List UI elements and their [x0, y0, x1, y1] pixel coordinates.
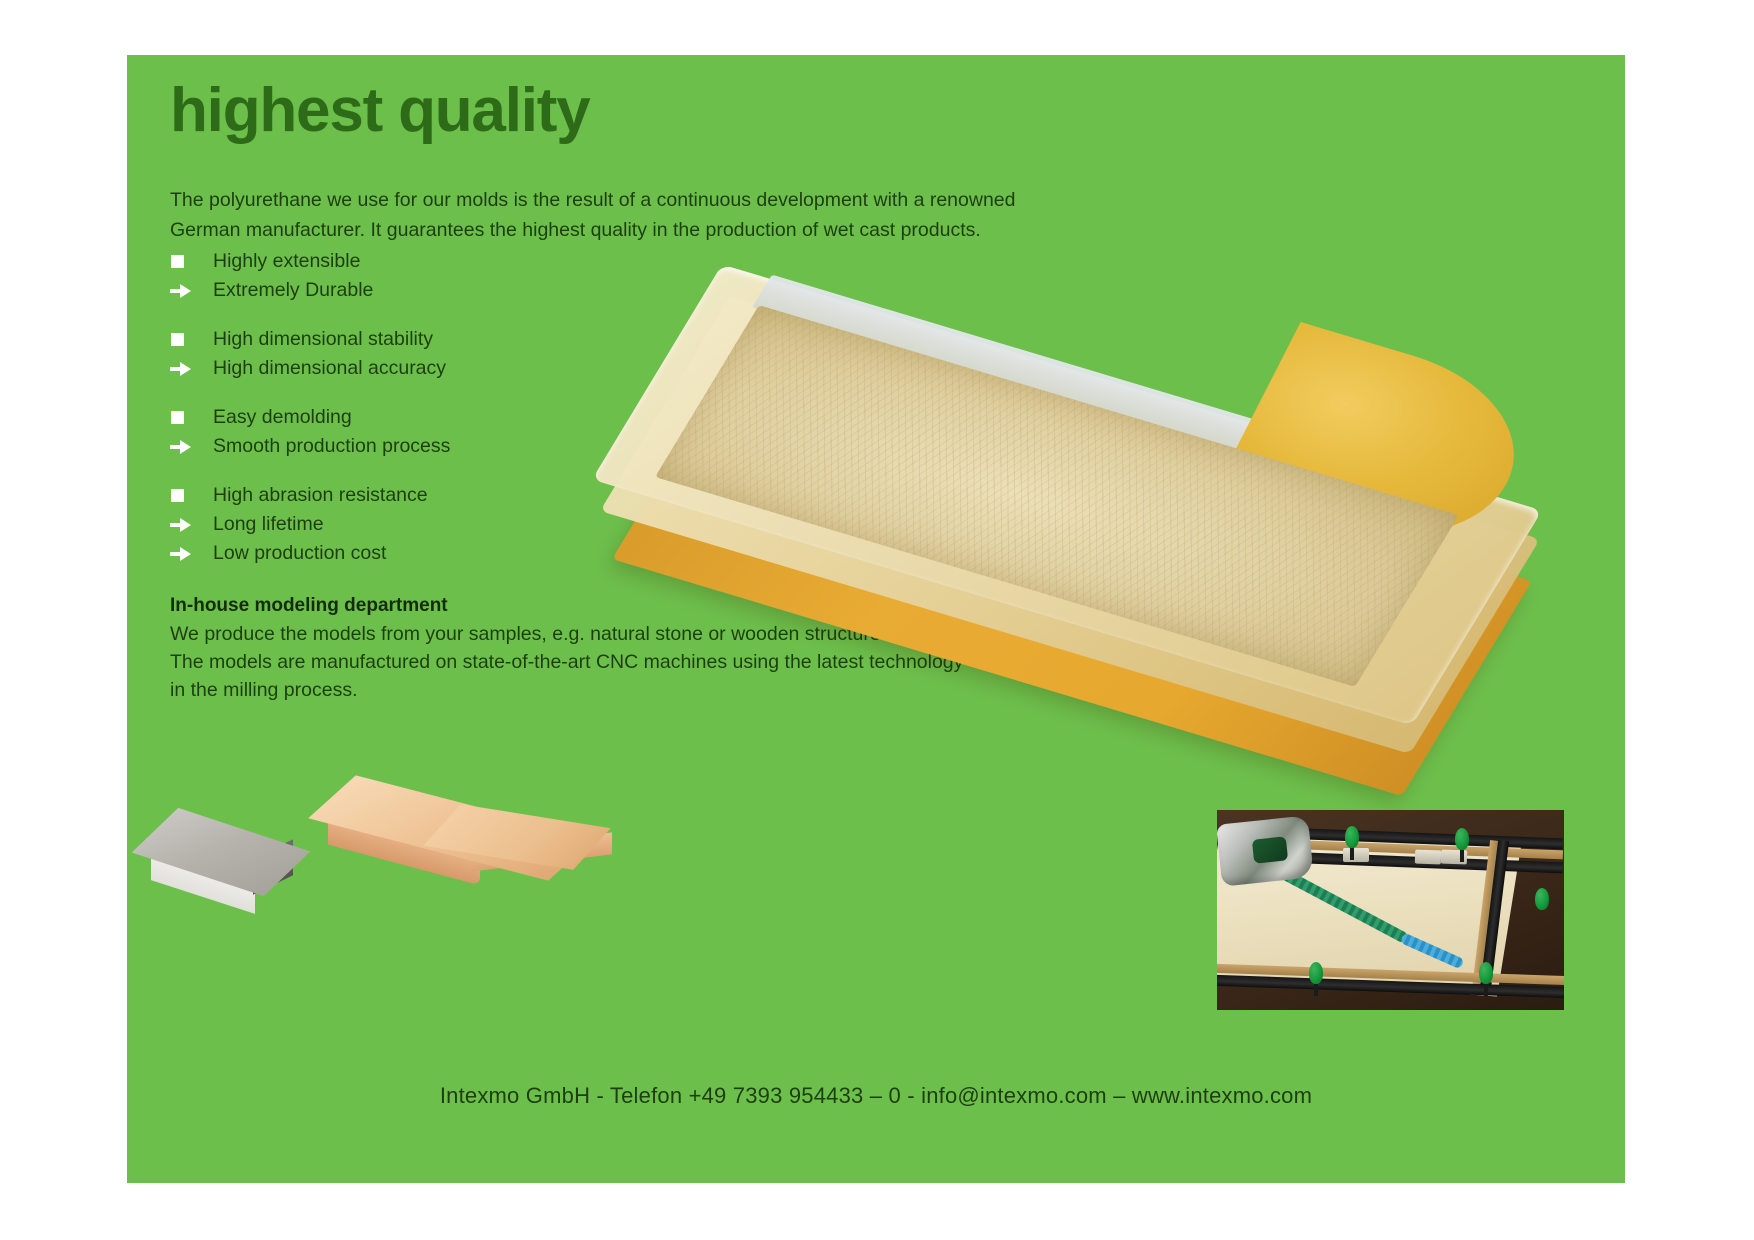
cnc-slider-block	[1415, 850, 1441, 865]
square-bullet-icon	[170, 333, 213, 346]
arrow-bullet-icon	[170, 284, 213, 298]
polyurethane-mold-photo	[557, 230, 1557, 750]
feature-label: High dimensional stability	[213, 325, 433, 354]
grey-stone-slab-sample	[147, 815, 327, 925]
arrow-bullet-icon	[170, 362, 213, 376]
tan-wood-structure-slab-sample	[322, 795, 612, 915]
arrow-bullet-icon	[170, 518, 213, 532]
arrow-bullet-icon	[170, 440, 213, 454]
cnc-green-clamp	[1479, 962, 1493, 984]
cnc-spray-head-nozzle	[1252, 836, 1288, 863]
feature-label: Smooth production process	[213, 432, 450, 461]
arrow-bullet-icon	[170, 547, 213, 561]
brochure-panel: highest quality The polyurethane we use …	[127, 55, 1625, 1183]
square-bullet-icon	[170, 255, 213, 268]
feature-label: Extremely Durable	[213, 276, 373, 305]
feature-label: Highly extensible	[213, 247, 360, 276]
cnc-green-clamp	[1535, 888, 1549, 910]
square-bullet-icon	[170, 411, 213, 424]
page-title: highest quality	[170, 80, 589, 142]
cnc-green-clamp	[1455, 828, 1469, 850]
square-bullet-icon	[170, 489, 213, 502]
feature-label: Easy demolding	[213, 403, 352, 432]
cnc-green-clamp	[1309, 962, 1323, 984]
cnc-slider-block	[1343, 848, 1369, 862]
footer-contact: Intexmo GmbH - Telefon +49 7393 954433 –…	[127, 1083, 1625, 1109]
feature-label: High abrasion resistance	[213, 481, 428, 510]
cnc-green-clamp	[1345, 826, 1359, 848]
feature-label: High dimensional accuracy	[213, 354, 446, 383]
feature-label: Long lifetime	[213, 510, 324, 539]
feature-label: Low production cost	[213, 539, 386, 568]
intro-line-1: The polyurethane we use for our molds is…	[170, 185, 1160, 215]
cnc-milling-machine-photo	[1217, 810, 1564, 1010]
